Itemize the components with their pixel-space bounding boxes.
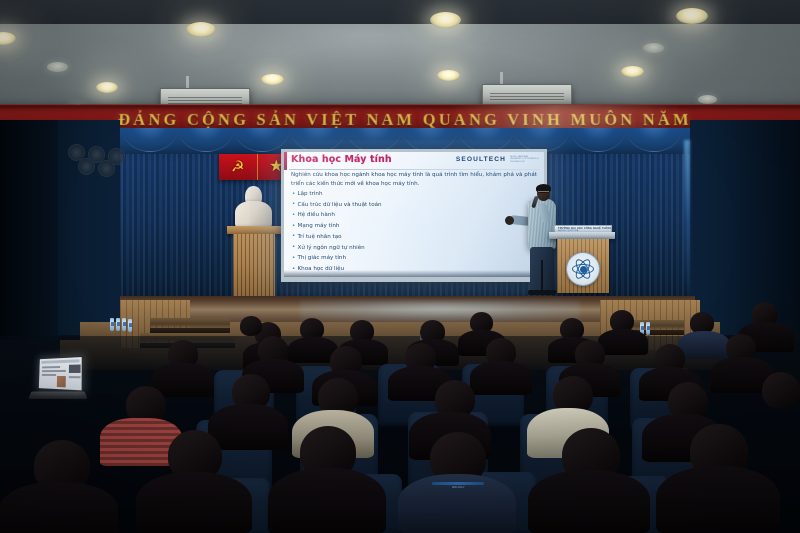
audience-shoulders: [136, 472, 252, 533]
page-sidebar-block: [69, 364, 81, 373]
water-bottle: [122, 318, 126, 331]
slide-body: Nghiên cứu khoa học ngành khoa học máy t…: [291, 171, 537, 277]
presentation-slide: Khoa học Máy tính SEOULTECH SEOUL NATION…: [284, 152, 544, 277]
pedestal-column: [233, 234, 275, 296]
emblem-core: [580, 266, 587, 273]
speaker-grill-icon: [98, 160, 115, 177]
water-bottle: [110, 318, 114, 331]
page-text-block: [69, 376, 81, 378]
laptop-screen: [38, 356, 83, 392]
seoultech-logo: SEOULTECH: [456, 156, 506, 163]
podium-top: [549, 232, 615, 239]
ceiling-light-off: [698, 95, 717, 104]
audience-shoulders: [528, 470, 650, 533]
bust-torso: [235, 201, 272, 228]
hammer-and-sickle-icon: ☭: [231, 160, 244, 175]
ceiling-light: [430, 12, 461, 28]
slide-title: Khoa học Máy tính: [291, 154, 392, 165]
audience-head: [240, 316, 262, 336]
curtain-light-shaft: [684, 140, 690, 300]
lecture-hall-photo: ĐẢNG CỘNG SẢN VIỆT NAM QUANG VINH MUÔN N…: [0, 0, 800, 533]
ceiling-light-off: [643, 43, 664, 53]
laptop-base: [28, 391, 87, 398]
slide-paragraph: Nghiên cứu khoa học ngành khoa học máy t…: [291, 171, 537, 188]
list-item: Hệ điều hành: [291, 210, 537, 221]
logo-prefix: SEOUL: [456, 156, 484, 163]
lanyard-text: NOLOGY: [452, 486, 465, 489]
water-bottle: [646, 322, 650, 335]
list-item: Trí tuệ nhân tạo: [291, 232, 537, 243]
valance-swag: [178, 128, 234, 152]
stage-floor-reflection: [300, 300, 580, 322]
page-text-block: [42, 370, 66, 372]
wall-speaker-array: [68, 144, 130, 174]
audience-shoulders: [0, 482, 118, 533]
title-divider: [289, 169, 540, 170]
browser-toolbar: [41, 359, 79, 363]
ceiling-light: [96, 82, 118, 93]
right-side-curtain: [690, 120, 800, 335]
audience-shoulders: [470, 361, 532, 395]
water-bottle: [128, 319, 132, 332]
ceiling-light: [621, 66, 644, 77]
slide-bullet-list: Lập trình Cấu trúc dữ liệu và thuật toán…: [291, 189, 537, 277]
banner-text: ĐẢNG CỘNG SẢN VIỆT NAM QUANG VINH MUÔN N…: [0, 110, 800, 130]
university-emblem-icon: [566, 252, 600, 286]
valance-swag: [626, 128, 682, 152]
speaker-left-hand: [505, 216, 514, 225]
communist-party-flag: ☭: [219, 154, 257, 180]
ceiling-light: [261, 74, 284, 85]
audience-shoulders: [268, 468, 386, 533]
page-text-block: [42, 366, 60, 368]
audience-head: [762, 372, 800, 408]
audience-shoulders: [598, 329, 648, 355]
title-accent-bar: [284, 152, 287, 170]
list-item: Lập trình: [291, 189, 537, 200]
pedestal-top: [227, 226, 281, 234]
list-item: Mạng máy tính: [291, 221, 537, 232]
speaker-leg-gap: [541, 260, 543, 292]
page-thumbnail: [57, 376, 66, 387]
list-item: Cấu trúc dữ liệu và thuật toán: [291, 200, 537, 211]
valance-swag: [122, 128, 178, 152]
ceiling-light: [437, 70, 460, 81]
speaker-shoes: [528, 290, 556, 295]
speaker-grill-icon: [78, 158, 95, 175]
logo-suffix: TECH: [484, 156, 506, 163]
screen-bottom-shadow: [284, 270, 544, 277]
list-item: Thị giác máy tính: [291, 253, 537, 264]
audience-shoulders: [678, 331, 730, 359]
audience-shoulders: [656, 466, 780, 533]
page-text-block: [42, 374, 56, 376]
stage-step: [150, 318, 230, 328]
lanyard: [432, 482, 484, 485]
glasses-icon: [538, 191, 549, 194]
list-item: Xử lý ngôn ngữ tự nhiên: [291, 243, 537, 254]
water-bottle: [116, 318, 120, 331]
ceiling-light: [186, 22, 216, 37]
left-wall-shadow: [0, 120, 58, 340]
ceiling-light-off: [47, 62, 68, 72]
audience-shoulders: [208, 404, 288, 450]
logo-subtitle: SEOUL NATIONAL UNIVERSITY OF SCIENCE & T…: [510, 156, 541, 164]
ceiling-light: [676, 8, 708, 24]
valance-swag: [570, 128, 626, 152]
